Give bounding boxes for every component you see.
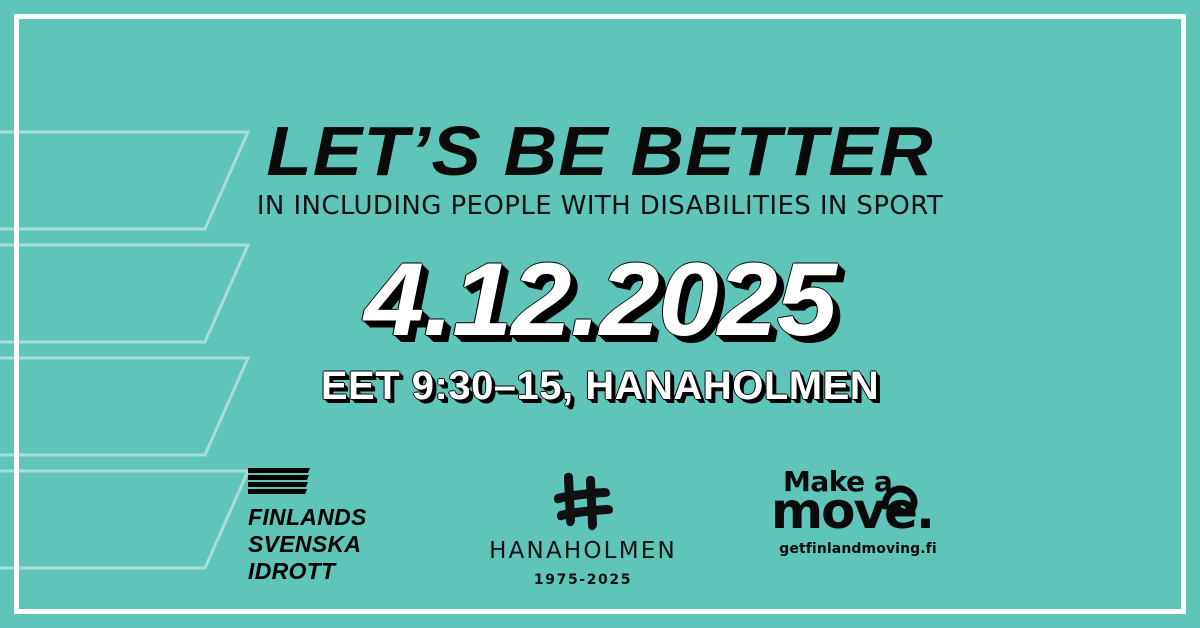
logo-make-a-move-url: getfinlandmoving.fi <box>758 542 958 556</box>
logo-hanaholmen-years: 1975-2025 <box>488 573 678 587</box>
event-date: 4.12.2025 <box>0 248 1200 352</box>
logo-hanaholmen-name: HANAHOLMEN <box>488 540 678 563</box>
logo-make-a-move: Make a move. getfinlandmoving.fi <box>758 462 958 556</box>
sponsor-logo-row: FINLANDS SVENSKA IDROTT HA <box>0 462 1200 592</box>
logo-fsi-text: FINLANDS SVENSKA IDROTT <box>248 504 408 585</box>
event-poster: LET’S BE BETTER IN INCLUDING PEOPLE WITH… <box>0 0 1200 628</box>
logo-hanaholmen: HANAHOLMEN 1975-2025 <box>488 462 678 587</box>
logo-finlands-svenska-idrott: FINLANDS SVENSKA IDROTT <box>242 462 408 585</box>
four-horizontal-bars-icon <box>248 468 310 494</box>
page-subtitle: IN INCLUDING PEOPLE WITH DISABILITIES IN… <box>0 193 1200 219</box>
hash-h-monogram-icon <box>551 470 615 532</box>
page-title: LET’S BE BETTER <box>0 116 1200 186</box>
event-time-and-venue: EET 9:30–15, HANAHOLMEN <box>0 366 1200 406</box>
make-a-move-wordmark-icon: Make a move. <box>765 464 951 538</box>
poster-content: LET’S BE BETTER IN INCLUDING PEOPLE WITH… <box>0 0 1200 628</box>
